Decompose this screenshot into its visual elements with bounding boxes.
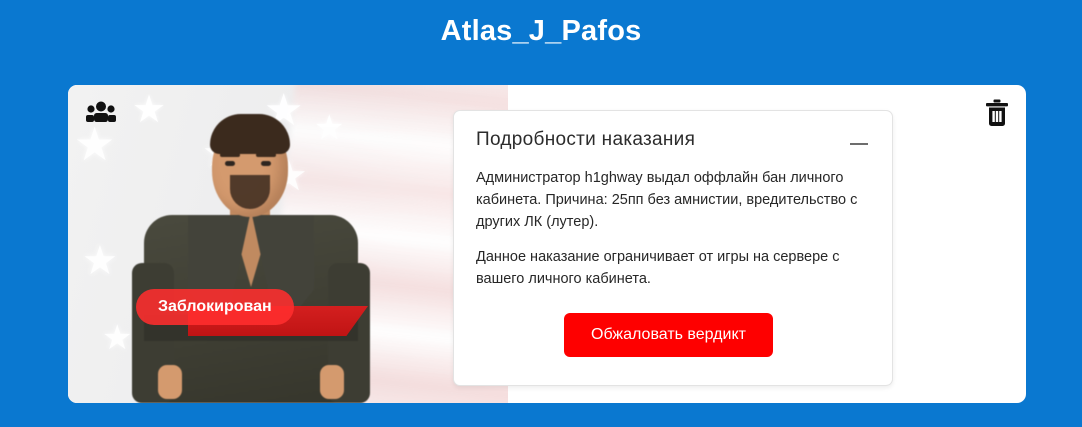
punishment-reason-text: Администратор h1ghway выдал оффлайн бан … [476,167,870,233]
trash-icon[interactable] [985,99,1009,127]
minus-icon[interactable] [848,133,870,155]
appeal-verdict-button[interactable]: Обжаловать вердикт [564,313,773,357]
profile-card: ★ ★ ★ ★ ★ ★ ★ ★ ★ ★ ★ ★ [68,85,1026,403]
panel-header: Подробности наказания [476,129,870,155]
page-title: Atlas_J_Pafos [0,0,1082,62]
flag-star: ★ [82,241,118,281]
punishment-effect-text: Данное наказание ограничивает от игры на… [476,246,870,290]
panel-title: Подробности наказания [476,129,695,151]
avatar [126,103,376,403]
punishment-details-panel: Подробности наказания Администратор h1gh… [453,110,893,386]
flag-star: ★ [74,121,115,167]
people-icon[interactable] [86,100,116,124]
status-badge: Заблокирован [136,289,294,325]
